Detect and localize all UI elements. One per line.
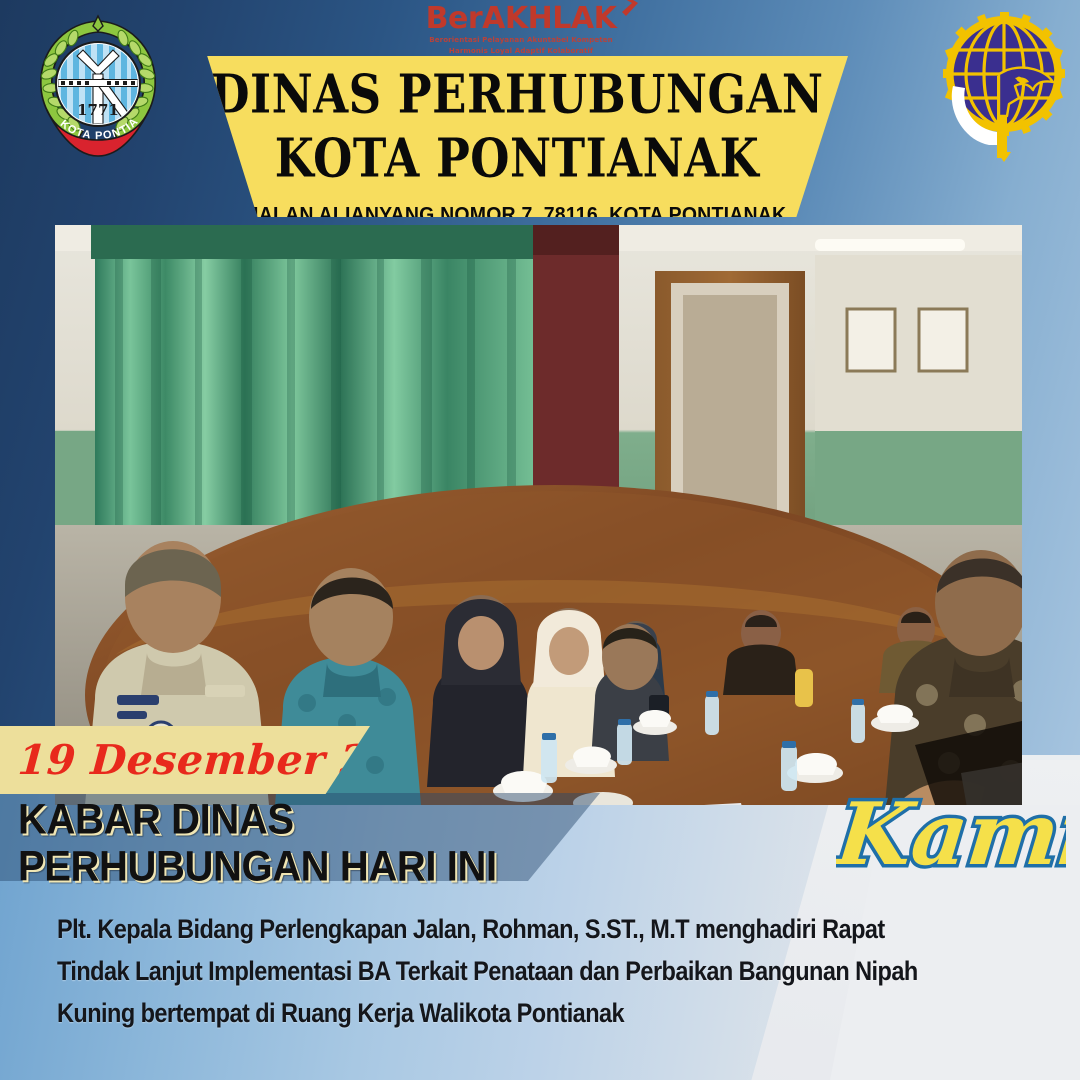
poster-canvas: BerAKHLAK Berorientasi Pelayanan Akuntab… bbox=[0, 0, 1080, 1080]
caption-line2: Tindak Lanjut Implementasi BA Terkait Pe… bbox=[57, 947, 1047, 995]
caption-line3: Kuning bertempat di Ruang Kerja Walikota… bbox=[57, 989, 1047, 1037]
headline: KABAR DINAS PERHUBUNGAN HARI INI bbox=[18, 798, 658, 886]
dinas-perhubungan-logo-icon bbox=[941, 12, 1067, 162]
caption-line1: Plt. Kepala Bidang Perlengkapan Jalan, R… bbox=[57, 905, 1047, 953]
kamis-text: Kamis bbox=[836, 784, 1066, 885]
headline-line1: KABAR DINAS bbox=[18, 798, 658, 842]
caption-block: Plt. Kepala Bidang Perlengkapan Jalan, R… bbox=[57, 905, 1047, 1031]
headline-line2: PERHUBUNGAN HARI INI bbox=[18, 845, 658, 889]
meeting-photo bbox=[55, 225, 1022, 805]
berakhlak-tagline-line2: Harmonis Loyal Adaptif Kolaboratif bbox=[418, 46, 624, 56]
title-plate: DINAS PERHUBUNGAN KOTA PONTIANAK JALAN A… bbox=[186, 56, 848, 217]
emblem-year: 1771 bbox=[77, 101, 119, 119]
berakhlak-tagline-line1: Berorientasi Pelayanan Akuntabel Kompete… bbox=[418, 35, 624, 45]
day-script-kamis: Kamis bbox=[836, 772, 1066, 892]
berakhlak-wordmark: BerAKHLAK bbox=[426, 4, 617, 34]
chevron-right-icon bbox=[618, 0, 640, 17]
page-title-line2: KOTA PONTIANAK bbox=[186, 132, 848, 186]
page-title-line1: DINAS PERHUBUNGAN bbox=[186, 68, 848, 122]
date-plate: 19 Desember 2024 bbox=[0, 726, 370, 794]
kota-pontianak-emblem-icon: 1771 KOTA PONTIANAK bbox=[27, 14, 169, 161]
meeting-photo-graphic bbox=[55, 225, 1022, 805]
